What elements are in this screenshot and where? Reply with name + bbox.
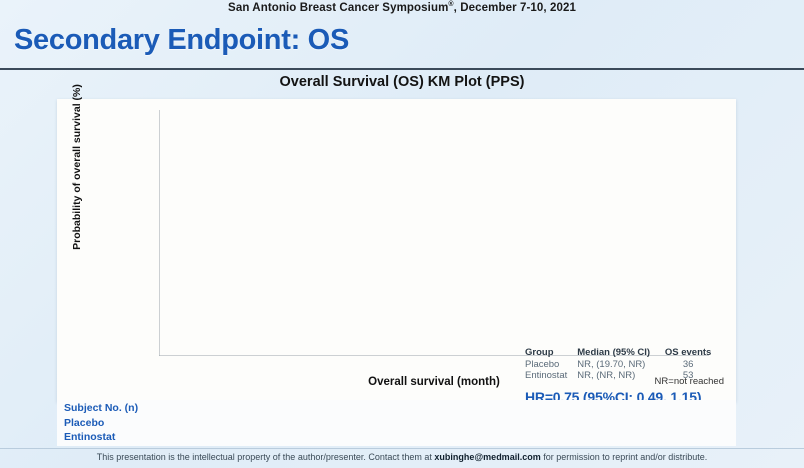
stats-header-group: Group xyxy=(525,347,577,359)
stats-events-placebo: 36 xyxy=(660,359,716,370)
table-row: Entinostat NR, (NR, NR) 53 xyxy=(525,370,716,381)
stats-events-entinostat: 53 xyxy=(660,370,716,381)
subject-number-table: Subject No. (n) Placebo Entinostat xyxy=(57,400,736,446)
footer-before: This presentation is the intellectual pr… xyxy=(97,452,435,462)
stats-header-row: Group Median (95% CI) OS events xyxy=(525,347,716,359)
risk-row-label-placebo: Placebo xyxy=(64,416,138,431)
stats-table: Group Median (95% CI) OS events Placebo … xyxy=(525,347,716,381)
chart-title: Overall Survival (OS) KM Plot (PPS) xyxy=(0,74,804,90)
km-curves-svg xyxy=(159,110,709,356)
page-title: Secondary Endpoint: OS xyxy=(14,24,349,57)
footer-after: for permission to reprint and/or distrib… xyxy=(541,452,708,462)
stats-group-placebo: Placebo xyxy=(525,359,577,370)
conference-dates: , December 7-10, 2021 xyxy=(454,2,576,14)
table-row: Placebo NR, (19.70, NR) 36 xyxy=(525,359,716,370)
stats-header-median: Median (95% CI) xyxy=(577,347,660,359)
contact-email: xubinghe@medmail.com xyxy=(434,452,540,462)
conference-header: San Antonio Breast Cancer Symposium®, De… xyxy=(0,1,804,14)
stats-header-events: OS events xyxy=(660,347,716,359)
title-divider xyxy=(0,68,804,70)
y-axis-label: Probability of overall survival (%) xyxy=(71,77,83,257)
plot-area xyxy=(159,110,709,356)
statistics-summary: Group Median (95% CI) OS events Placebo … xyxy=(525,347,716,405)
footer-text: This presentation is the intellectual pr… xyxy=(0,452,804,462)
risk-table-labels: Subject No. (n) Placebo Entinostat xyxy=(64,401,138,445)
stats-group-entinostat: Entinostat xyxy=(525,370,577,381)
risk-row-label-entinostat: Entinostat xyxy=(64,430,138,445)
conference-name: San Antonio Breast Cancer Symposium xyxy=(228,2,448,14)
stats-median-placebo: NR, (19.70, NR) xyxy=(577,359,660,370)
stats-median-entinostat: NR, (NR, NR) xyxy=(577,370,660,381)
chart-panel: Probability of overall survival (%) Over… xyxy=(57,99,736,402)
risk-table-title: Subject No. (n) xyxy=(64,401,138,416)
footer-divider xyxy=(0,448,804,449)
